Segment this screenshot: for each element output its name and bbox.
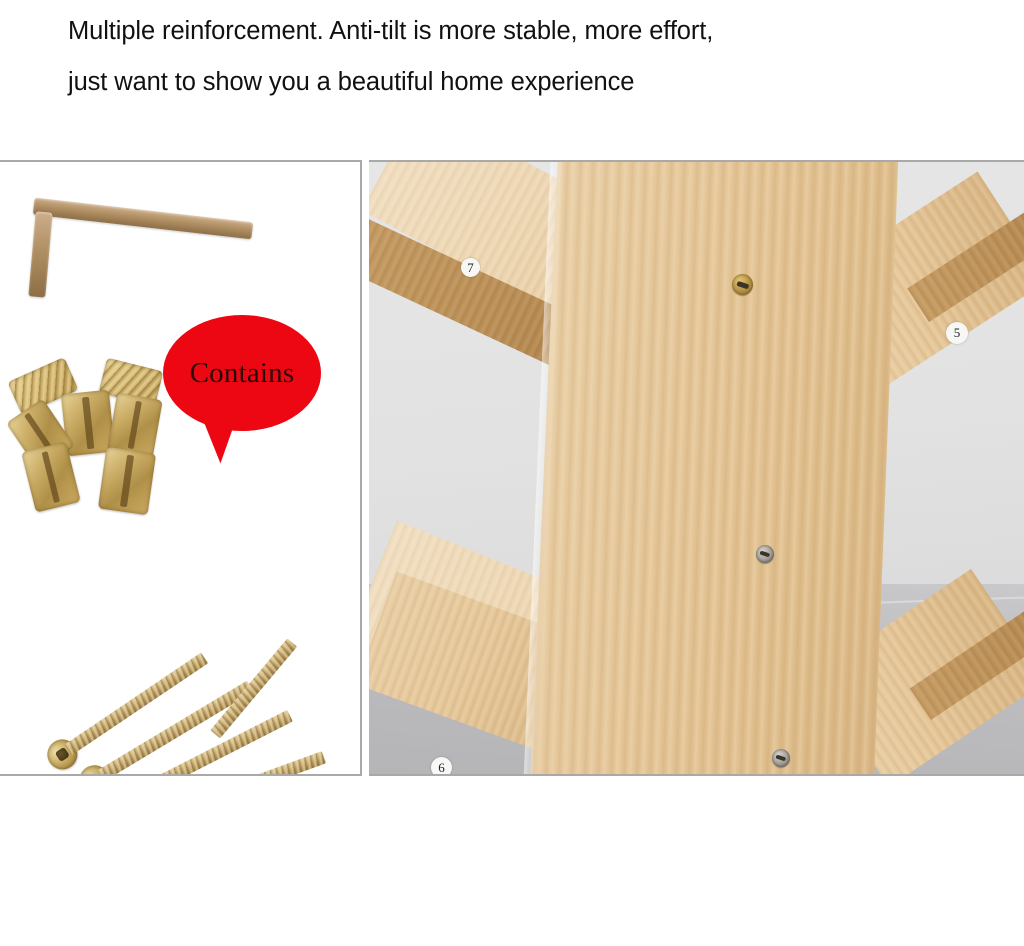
shelf-cap-marker-7: 7	[461, 258, 480, 277]
headline-line-1: Multiple reinforcement. Anti-tilt is mor…	[0, 6, 1024, 57]
contains-callout-label: Contains	[190, 357, 295, 390]
shelf-cap-label: 7	[467, 260, 474, 276]
barrel-cam-nut	[98, 447, 156, 515]
shelf-closeup-panel: 7 5 6	[369, 160, 1024, 776]
included-hardware-panel: Contains	[0, 160, 362, 776]
shelf-cap-marker-6: 6	[431, 757, 452, 776]
shelf-cap-marker-5: 5	[946, 322, 968, 344]
headline-block: Multiple reinforcement. Anti-tilt is mor…	[0, 0, 1024, 108]
brass-screw-upper	[732, 274, 753, 295]
shelf-cap-label: 6	[438, 760, 445, 776]
contains-callout-bubble: Contains	[163, 315, 321, 431]
shelf-cap-label: 5	[954, 325, 961, 341]
steel-screw-lower	[772, 749, 790, 767]
hex-allen-key-long-arm	[33, 198, 254, 240]
hex-allen-key-short-arm	[28, 211, 52, 297]
hex-socket-bolt-group	[36, 597, 326, 776]
vertical-post-panel	[529, 160, 899, 776]
headline-line-2: just want to show you a beautiful home e…	[0, 57, 1024, 108]
steel-screw-middle	[756, 545, 774, 563]
image-panels-row: Contains	[0, 160, 1024, 778]
